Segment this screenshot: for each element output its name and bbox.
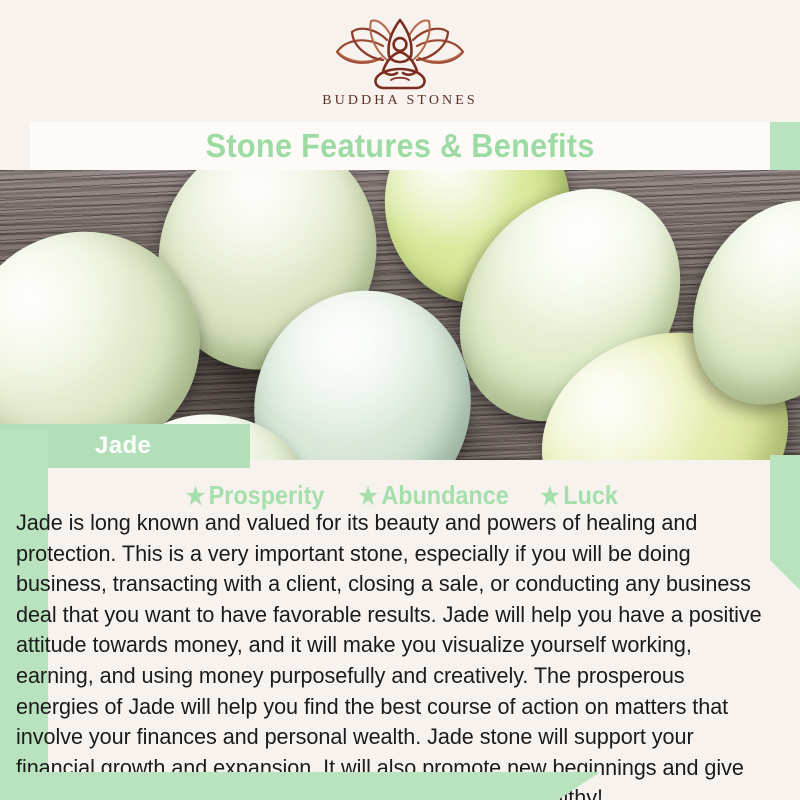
benefit-label: Prosperity bbox=[208, 480, 324, 510]
card-header: BUDDHA STONES bbox=[0, 0, 800, 122]
description-text: Jade is long known and valued for its be… bbox=[16, 508, 765, 800]
star-icon: ★ bbox=[359, 483, 378, 510]
page-title: Stone Features & Benefits bbox=[205, 127, 594, 165]
stone-info-card: BUDDHA STONES Stone Features & Benefits … bbox=[0, 0, 800, 800]
benefit-item: ★Prosperity bbox=[186, 480, 325, 511]
title-banner: Stone Features & Benefits bbox=[30, 122, 770, 170]
brand-logo: BUDDHA STONES bbox=[0, 18, 800, 109]
star-icon: ★ bbox=[540, 483, 559, 510]
decor-green-right-lower bbox=[770, 455, 800, 590]
lotus-meditation-icon bbox=[325, 18, 475, 90]
benefits-row: ★Prosperity ★Abundance ★Luck bbox=[0, 480, 800, 511]
benefit-label: Abundance bbox=[382, 480, 509, 510]
brand-wordmark: BUDDHA STONES bbox=[0, 93, 800, 109]
decor-green-bottom-left bbox=[0, 772, 600, 800]
benefit-label: Luck bbox=[563, 480, 618, 510]
jade-stones-photo bbox=[0, 170, 800, 460]
stone-name-label: Jade bbox=[95, 432, 151, 460]
benefit-item: ★Abundance bbox=[359, 480, 509, 511]
description-block: Jade is long known and valued for its be… bbox=[16, 508, 765, 800]
star-icon: ★ bbox=[186, 483, 205, 510]
benefit-item: ★Luck bbox=[540, 480, 618, 511]
